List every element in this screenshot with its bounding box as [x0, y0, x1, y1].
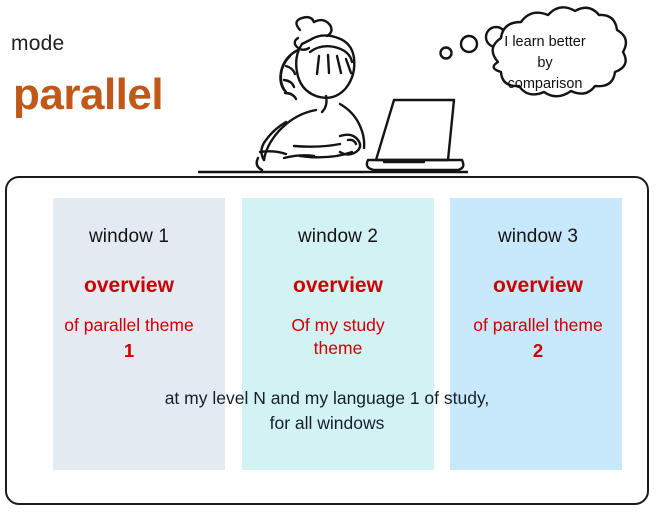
mode-value: parallel — [13, 70, 163, 120]
thought-bubble-line-2: by — [472, 53, 618, 74]
thought-bubble-icon: I learn better by comparison — [436, 4, 652, 130]
thought-bubble-line-1: I learn better — [472, 32, 618, 53]
window-3-desc-line: of parallel theme — [435, 314, 641, 337]
window-3-title: window 3 — [435, 226, 641, 248]
header: mode parallel — [0, 0, 656, 176]
window-3-overview: overview — [435, 274, 641, 298]
window-2-title: window 2 — [238, 226, 438, 248]
window-1-description: of parallel theme 1 — [13, 314, 245, 362]
mode-label: mode — [11, 32, 64, 56]
window-3-desc-number: 2 — [435, 339, 641, 362]
window-2-desc-line: Of my study — [238, 314, 438, 337]
window-1-desc-number: 1 — [13, 339, 245, 362]
thought-bubble-text: I learn better by comparison — [472, 32, 618, 95]
window-2-description: Of my study theme — [238, 314, 438, 360]
window-1-desc-line: of parallel theme — [13, 314, 245, 337]
window-1-overview: overview — [13, 274, 245, 298]
person-studying-at-laptop-icon — [198, 0, 468, 176]
window-2-desc-line-2: theme — [238, 337, 438, 360]
window-1-title: window 1 — [13, 226, 245, 248]
window-2-overview: overview — [238, 274, 438, 298]
windows-panel: window 1 overview of parallel theme 1 wi… — [5, 176, 649, 505]
window-3-description: of parallel theme 2 — [435, 314, 641, 362]
thought-bubble-line-3: comparison — [472, 74, 618, 95]
